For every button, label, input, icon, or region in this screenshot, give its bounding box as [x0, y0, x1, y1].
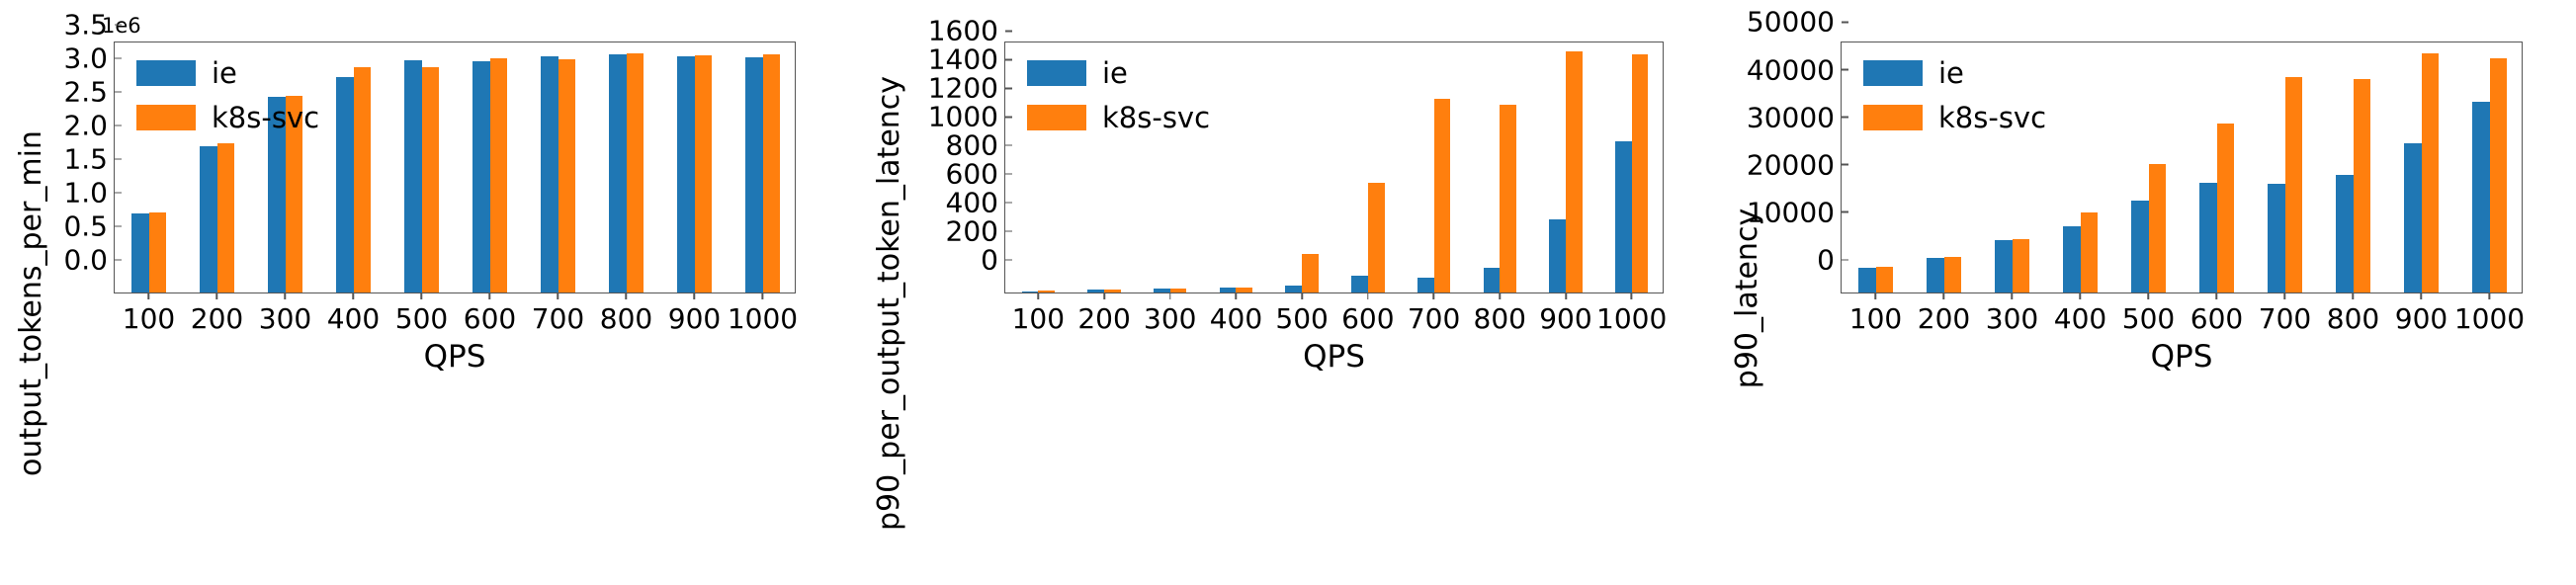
y-axis-tick-mark	[115, 24, 122, 26]
y-axis-tick-mark	[1842, 117, 1848, 119]
x-axis-tick-mark	[1169, 292, 1171, 299]
bar-k8s-svc-200	[1944, 257, 1961, 292]
y-axis-tick: 200	[946, 215, 1005, 248]
bar-k8s-svc-900	[2422, 53, 2439, 292]
y-axis-tick-mark	[1005, 202, 1012, 204]
bar-ie-300	[1995, 240, 2012, 292]
legend: ie k8s-svc	[1027, 56, 1210, 134]
x-axis-tick-label: 400	[1210, 302, 1262, 335]
x-axis-tick-label: 1000	[1596, 302, 1667, 335]
x-axis-tick-label: 200	[191, 302, 243, 335]
x-axis-tick: 1000	[2454, 292, 2525, 335]
legend-item-k8s-svc: k8s-svc	[1027, 101, 1210, 134]
x-axis-tick-label: 300	[1144, 302, 1196, 335]
legend-label-k8s-svc: k8s-svc	[1102, 101, 1210, 134]
legend-item-ie: ie	[1027, 56, 1210, 90]
x-axis-label: QPS	[1004, 339, 1664, 375]
x-axis-tick-label: 600	[2190, 302, 2243, 335]
x-axis-tick: 300	[259, 292, 311, 335]
y-axis-tick-mark	[115, 158, 122, 160]
y-axis-tick-label: 10000	[1747, 196, 1842, 228]
y-axis-tick-mark	[1842, 211, 1848, 213]
y-axis-tick-label: 400	[946, 187, 1005, 219]
legend: ie k8s-svc	[1863, 56, 2046, 134]
bar-k8s-svc-600	[490, 58, 507, 292]
y-axis-tick: 1400	[928, 43, 1005, 76]
y-axis-tick-mark	[1005, 30, 1012, 32]
x-axis-tick-label: 900	[668, 302, 721, 335]
bar-k8s-svc-500	[1302, 254, 1319, 292]
bar-ie-100	[1858, 268, 1875, 292]
y-axis-tick-label: 600	[946, 158, 1005, 191]
x-axis-tick-label: 100	[123, 302, 175, 335]
y-axis-tick: 3.0	[63, 42, 115, 75]
y-axis-tick: 2.0	[63, 110, 115, 142]
bar-ie-600	[472, 61, 489, 292]
x-axis-tick: 1000	[728, 292, 798, 335]
y-axis-tick-label: 40000	[1747, 53, 1842, 86]
y-axis-tick-mark	[115, 225, 122, 227]
legend-label-k8s-svc: k8s-svc	[212, 101, 319, 134]
y-axis-tick-label: 1000	[928, 101, 1005, 133]
x-axis-tick-mark	[1236, 292, 1238, 299]
x-axis-tick-mark	[2012, 292, 2014, 299]
legend-label-ie: ie	[1102, 56, 1128, 90]
x-axis-tick-label: 800	[1474, 302, 1526, 335]
bar-k8s-svc-200	[217, 143, 234, 292]
bar-ie-700	[541, 56, 558, 292]
y-axis-tick-label: 50000	[1747, 6, 1842, 39]
x-axis-tick: 700	[2259, 292, 2311, 335]
bar-ie-200	[1927, 258, 1943, 292]
plot-area: ie k8s-svc 01000020000300004000050000100…	[1841, 42, 2523, 293]
y-axis-tick-mark	[1005, 173, 1012, 175]
x-axis-tick: 100	[123, 292, 175, 335]
y-axis-tick: 0	[981, 244, 1005, 277]
x-axis-tick-mark	[1943, 292, 1945, 299]
bar-ie-800	[1484, 268, 1501, 293]
y-axis-tick: 40000	[1747, 53, 1842, 86]
y-axis-tick-mark	[1842, 164, 1848, 166]
bar-k8s-svc-400	[354, 67, 371, 292]
bar-ie-500	[2131, 201, 2148, 292]
bar-ie-200	[200, 146, 216, 292]
x-axis-tick: 800	[600, 292, 652, 335]
y-axis-tick: 1000	[928, 101, 1005, 133]
bar-k8s-svc-800	[2354, 79, 2370, 292]
x-axis-tick-label: 500	[2122, 302, 2175, 335]
y-axis-tick-mark	[1842, 69, 1848, 71]
x-axis-tick-mark	[2148, 292, 2150, 299]
legend-swatch-ie	[1027, 60, 1086, 86]
y-axis-tick-label: 200	[946, 215, 1005, 248]
x-axis-tick-mark	[148, 292, 150, 299]
x-axis-tick-label: 400	[2054, 302, 2106, 335]
y-axis-tick: 400	[946, 187, 1005, 219]
bar-k8s-svc-600	[2217, 124, 2234, 292]
bar-k8s-svc-400	[2081, 212, 2098, 292]
x-axis-label: QPS	[114, 339, 796, 375]
y-axis-tick: 0	[1817, 244, 1842, 277]
y-axis-tick-label: 20000	[1747, 148, 1842, 181]
legend-item-ie: ie	[1863, 56, 2046, 90]
x-axis-tick-label: 900	[1539, 302, 1591, 335]
x-axis-tick-mark	[2421, 292, 2423, 299]
y-axis-tick-mark	[115, 91, 122, 93]
y-axis-tick-label: 1.0	[63, 177, 115, 209]
x-axis-tick: 600	[1341, 292, 1394, 335]
bar-k8s-svc-500	[422, 67, 439, 292]
plot-area: ie k8s-svc 0.00.51.01.52.02.53.03.510020…	[114, 42, 796, 293]
x-axis-tick-label: 200	[1077, 302, 1130, 335]
x-axis-tick: 500	[395, 292, 448, 335]
legend-item-k8s-svc: k8s-svc	[136, 101, 319, 134]
bar-ie-600	[2199, 183, 2216, 292]
figure-bar-chart-triptych: output_tokens_per_min 1e6 ie k8s-svc 0.0…	[0, 0, 2576, 585]
bar-k8s-svc-1000	[2490, 58, 2507, 292]
y-axis-tick-mark	[1842, 22, 1848, 24]
x-axis-tick-label: 600	[1341, 302, 1394, 335]
bar-ie-1000	[745, 57, 762, 292]
x-axis-tick-mark	[762, 292, 764, 299]
x-axis-tick-mark	[1499, 292, 1501, 299]
x-axis-tick-mark	[285, 292, 287, 299]
bar-k8s-svc-1000	[763, 54, 780, 292]
y-axis-label: output_tokens_per_min	[12, 71, 51, 536]
bar-ie-400	[2063, 226, 2080, 292]
legend-swatch-ie	[136, 60, 196, 86]
plot-area: ie k8s-svc 02004006008001000120014001600…	[1004, 42, 1664, 293]
y-axis-tick: 0.0	[63, 244, 115, 277]
x-axis-tick: 1000	[1596, 292, 1667, 335]
bar-k8s-svc-900	[1566, 51, 1583, 292]
x-axis-tick-mark	[1631, 292, 1633, 299]
legend-swatch-k8s-svc	[1027, 105, 1086, 130]
x-axis-tick-mark	[489, 292, 491, 299]
legend-item-k8s-svc: k8s-svc	[1863, 101, 2046, 134]
bar-k8s-svc-300	[2013, 239, 2029, 292]
bar-k8s-svc-800	[1500, 105, 1516, 292]
y-axis-tick-label: 0	[1817, 244, 1842, 277]
x-axis-tick: 100	[1012, 292, 1065, 335]
x-axis-tick-label: 200	[1918, 302, 1970, 335]
bar-k8s-svc-100	[1876, 267, 1893, 292]
y-axis-tick: 20000	[1747, 148, 1842, 181]
bar-ie-900	[2404, 143, 2421, 292]
y-axis-tick-mark	[1005, 259, 1012, 261]
legend-item-ie: ie	[136, 56, 319, 90]
y-axis-tick-label: 1400	[928, 43, 1005, 76]
bar-ie-1000	[1615, 141, 1632, 292]
x-axis-tick-mark	[1103, 292, 1105, 299]
bar-k8s-svc-500	[2149, 164, 2166, 292]
y-axis-tick-label: 1200	[928, 72, 1005, 105]
y-axis-tick-mark	[1842, 259, 1848, 261]
y-axis-tick-label: 0	[981, 244, 1005, 277]
x-axis-tick-mark	[626, 292, 628, 299]
y-axis-tick: 50000	[1747, 6, 1842, 39]
legend-label-ie: ie	[1938, 56, 1964, 90]
x-axis-tick-mark	[2216, 292, 2218, 299]
x-axis-tick-mark	[1433, 292, 1435, 299]
x-axis-tick-label: 700	[2259, 302, 2311, 335]
x-axis-tick: 900	[1539, 292, 1591, 335]
y-axis-tick-mark	[1005, 144, 1012, 146]
x-axis-tick-mark	[1301, 292, 1303, 299]
x-axis-tick-mark	[558, 292, 559, 299]
legend-label-k8s-svc: k8s-svc	[1938, 101, 2046, 134]
bar-ie-700	[1417, 278, 1434, 293]
x-axis-tick-mark	[1875, 292, 1877, 299]
x-axis-tick-label: 300	[1986, 302, 2038, 335]
x-axis-tick-mark	[1367, 292, 1369, 299]
x-axis-tick: 200	[191, 292, 243, 335]
y-axis-tick: 1.5	[63, 143, 115, 176]
y-axis-tick-label: 800	[946, 129, 1005, 162]
x-axis-tick: 400	[2054, 292, 2106, 335]
x-axis-tick: 700	[532, 292, 584, 335]
x-axis-tick-mark	[2353, 292, 2355, 299]
bar-k8s-svc-900	[695, 55, 712, 292]
y-axis-tick-mark	[1005, 58, 1012, 60]
y-axis-tick-label: 30000	[1747, 101, 1842, 133]
chart-panel-p90-latency: p90_latency ie k8s-svc 01000020000300004…	[1716, 0, 2574, 585]
y-axis-tick: 3.5	[63, 9, 115, 42]
bar-ie-500	[1285, 286, 1302, 292]
y-axis-tick-mark	[115, 57, 122, 59]
y-axis-tick: 2.5	[63, 76, 115, 109]
y-axis-tick-label: 1.5	[63, 143, 115, 176]
x-axis-tick: 600	[464, 292, 516, 335]
x-axis-tick-mark	[216, 292, 218, 299]
y-axis-tick-label: 0.5	[63, 210, 115, 243]
x-axis-tick-label: 700	[532, 302, 584, 335]
x-axis-tick-mark	[421, 292, 423, 299]
chart-panel-p90-per-output-token-latency: p90_per_output_token_latency ie k8s-svc …	[858, 0, 1716, 585]
y-axis-tick: 1.0	[63, 177, 115, 209]
y-axis-tick-mark	[115, 259, 122, 261]
y-axis-tick: 10000	[1747, 196, 1842, 228]
bar-ie-800	[609, 54, 626, 292]
x-axis-label: QPS	[1841, 339, 2523, 375]
x-axis-tick: 800	[2327, 292, 2379, 335]
chart-panel-output-tokens-per-min: output_tokens_per_min 1e6 ie k8s-svc 0.0…	[0, 0, 858, 585]
bar-k8s-svc-700	[2285, 77, 2302, 292]
legend-swatch-ie	[1863, 60, 1923, 86]
x-axis-tick-label: 300	[259, 302, 311, 335]
bar-ie-700	[2268, 184, 2284, 292]
y-axis-tick: 30000	[1747, 101, 1842, 133]
y-axis-tick-label: 1600	[928, 15, 1005, 47]
x-axis-tick-label: 100	[1849, 302, 1902, 335]
x-axis-tick-mark	[694, 292, 696, 299]
y-axis-tick-mark	[1005, 87, 1012, 89]
y-axis-tick: 800	[946, 129, 1005, 162]
bar-k8s-svc-1000	[1632, 54, 1649, 292]
x-axis-tick: 400	[1210, 292, 1262, 335]
x-axis-tick-label: 700	[1408, 302, 1460, 335]
x-axis-tick: 300	[1986, 292, 2038, 335]
bar-ie-600	[1351, 276, 1368, 292]
x-axis-tick: 200	[1918, 292, 1970, 335]
y-axis-tick-label: 0.0	[63, 244, 115, 277]
x-axis-tick-label: 900	[2395, 302, 2447, 335]
legend: ie k8s-svc	[136, 56, 319, 134]
x-axis-tick: 500	[1275, 292, 1328, 335]
y-axis-tick-mark	[1005, 230, 1012, 232]
bar-k8s-svc-100	[149, 212, 166, 292]
y-axis-tick-label: 2.0	[63, 110, 115, 142]
x-axis-tick-label: 500	[395, 302, 448, 335]
y-axis-tick-mark	[1005, 116, 1012, 118]
y-axis-tick-label: 3.0	[63, 42, 115, 75]
y-axis-tick-mark	[115, 192, 122, 194]
x-axis-tick-mark	[353, 292, 355, 299]
x-axis-tick-label: 600	[464, 302, 516, 335]
x-axis-tick-label: 400	[327, 302, 380, 335]
x-axis-tick: 300	[1144, 292, 1196, 335]
bar-k8s-svc-600	[1368, 183, 1385, 292]
x-axis-tick-label: 100	[1012, 302, 1065, 335]
legend-swatch-k8s-svc	[1863, 105, 1923, 130]
x-axis-tick: 600	[2190, 292, 2243, 335]
x-axis-tick-mark	[1565, 292, 1567, 299]
y-axis-tick: 600	[946, 158, 1005, 191]
bar-ie-900	[1549, 219, 1566, 292]
y-axis-tick-label: 2.5	[63, 76, 115, 109]
x-axis-tick-mark	[2284, 292, 2286, 299]
bar-ie-500	[404, 60, 421, 292]
bar-k8s-svc-800	[627, 53, 644, 292]
legend-swatch-k8s-svc	[136, 105, 196, 130]
bar-ie-800	[2336, 175, 2353, 292]
x-axis-tick: 900	[2395, 292, 2447, 335]
bar-k8s-svc-700	[1434, 99, 1451, 292]
x-axis-tick-mark	[2080, 292, 2082, 299]
x-axis-tick-mark	[2489, 292, 2491, 299]
x-axis-tick: 100	[1849, 292, 1902, 335]
bar-ie-100	[131, 213, 148, 292]
x-axis-tick-label: 800	[2327, 302, 2379, 335]
x-axis-tick: 500	[2122, 292, 2175, 335]
x-axis-tick-mark	[1037, 292, 1039, 299]
y-axis-tick-label: 3.5	[63, 9, 115, 42]
y-axis-label: p90_per_output_token_latency	[870, 61, 909, 545]
y-axis-tick-mark	[115, 125, 122, 126]
y-axis-tick: 0.5	[63, 210, 115, 243]
x-axis-tick: 400	[327, 292, 380, 335]
legend-label-ie: ie	[212, 56, 237, 90]
bar-ie-1000	[2472, 102, 2489, 292]
x-axis-tick-label: 800	[600, 302, 652, 335]
x-axis-tick: 900	[668, 292, 721, 335]
bar-ie-900	[677, 56, 694, 292]
x-axis-tick: 800	[1474, 292, 1526, 335]
bar-ie-400	[336, 77, 353, 292]
bar-k8s-svc-700	[558, 59, 575, 292]
y-axis-tick: 1200	[928, 72, 1005, 105]
x-axis-tick-label: 1000	[728, 302, 798, 335]
x-axis-tick-label: 500	[1275, 302, 1328, 335]
x-axis-tick-label: 1000	[2454, 302, 2525, 335]
x-axis-tick: 700	[1408, 292, 1460, 335]
y-axis-tick: 1600	[928, 15, 1005, 47]
x-axis-tick: 200	[1077, 292, 1130, 335]
